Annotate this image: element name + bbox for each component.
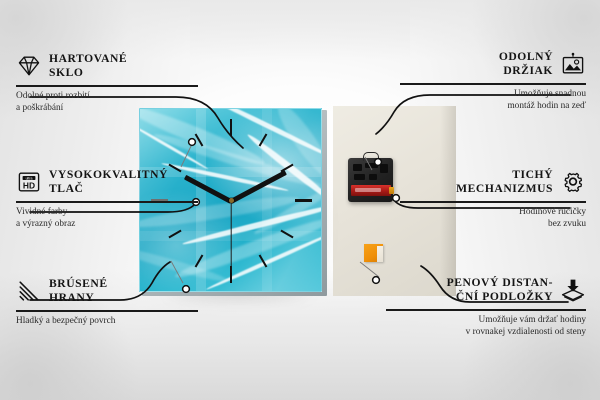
feature-title-polished-edges: BRÚSENÉ HRANY bbox=[49, 277, 108, 305]
feature-title-tempered-glass: HARTOVANÉ SKLO bbox=[49, 52, 127, 80]
feature-subtitle-line-1: Hodinové ručičky bbox=[400, 207, 586, 219]
stacked-layers-down-arrow-icon bbox=[560, 278, 586, 302]
feature-subtitle-line-2: a poškrábání bbox=[16, 103, 198, 115]
title-line-2: TLAČ bbox=[49, 182, 168, 196]
feature-header-foam-spacers: PENOVÝ DISTAN- ČNÍ PODLOŽKY bbox=[386, 276, 586, 304]
feature-subtitle-line-2: montáž hodin na zeď bbox=[400, 101, 586, 113]
title-line-2: MECHANIZMUS bbox=[456, 182, 553, 196]
gear-icon bbox=[560, 170, 586, 194]
title-line-2: DRŽIAK bbox=[503, 64, 553, 78]
feature-subtitle-line-1: Hladký a bezpečný povrch bbox=[16, 316, 198, 328]
feature-title-silent-mechanism: TICHÝ MECHANIZMUS bbox=[456, 168, 553, 196]
feature-divider bbox=[400, 83, 586, 85]
diamond-icon bbox=[16, 54, 42, 78]
feature-divider bbox=[16, 85, 198, 87]
endpoint-glass bbox=[189, 139, 196, 146]
title-line-1: HARTOVANÉ bbox=[49, 52, 127, 66]
feature-silent-mechanism: TICHÝ MECHANIZMUS Hodinové ručičky bez z… bbox=[400, 168, 586, 230]
feature-tempered-glass: HARTOVANÉ SKLO Odolné proti rozbití a po… bbox=[16, 52, 198, 114]
feature-header-silent-mechanism: TICHÝ MECHANIZMUS bbox=[400, 168, 586, 196]
endpoint-foam bbox=[373, 277, 380, 284]
title-line-1: BRÚSENÉ bbox=[49, 277, 108, 291]
feature-divider bbox=[386, 309, 586, 311]
leader-glass bbox=[181, 144, 192, 167]
beveled-edge-icon bbox=[16, 279, 42, 303]
title-line-2: ČNÍ PODLOŽKY bbox=[456, 290, 553, 304]
feature-subtitle-line-2: v rovnakej vzdialenosti od steny bbox=[386, 327, 586, 339]
title-line-1: PENOVÝ DISTAN- bbox=[447, 276, 553, 290]
feature-subtitle-line-1: Odolné proti rozbití bbox=[16, 91, 198, 103]
title-line-2: SKLO bbox=[49, 66, 127, 80]
framed-picture-hook-icon bbox=[560, 52, 586, 76]
feature-subtitle-line-2: bez zvuku bbox=[400, 219, 586, 231]
feature-header-polished-edges: BRÚSENÉ HRANY bbox=[16, 277, 198, 305]
title-line-1: TICHÝ bbox=[512, 168, 553, 182]
feature-header-durable-holder: ODOLNÝ DRŽIAK bbox=[400, 50, 586, 78]
ultra-hd-icon-main-label: HD bbox=[23, 181, 35, 191]
feature-subtitle-line-1: Umožňuje snadnou bbox=[400, 89, 586, 101]
feature-header-tempered-glass: HARTOVANÉ SKLO bbox=[16, 52, 198, 80]
endpoint-mech bbox=[393, 195, 400, 202]
feature-title-foam-spacers: PENOVÝ DISTAN- ČNÍ PODLOŽKY bbox=[447, 276, 553, 304]
feature-subtitle-line-2: a výrazný obraz bbox=[16, 219, 198, 231]
feature-header-high-quality-print: ultra HD VYSOKOKVALITNÝ TLAČ bbox=[16, 168, 198, 196]
feature-durable-holder: ODOLNÝ DRŽIAK Umožňuje snadnou montáž ho… bbox=[400, 50, 586, 112]
ultra-hd-icon: ultra HD bbox=[16, 170, 42, 194]
feature-high-quality-print: ultra HD VYSOKOKVALITNÝ TLAČ Vividné far… bbox=[16, 168, 198, 230]
feature-divider bbox=[16, 310, 198, 312]
title-line-1: VYSOKOKVALITNÝ bbox=[49, 168, 168, 182]
endpoint-holder bbox=[375, 159, 382, 166]
feature-polished-edges: BRÚSENÉ HRANY Hladký a bezpečný povrch bbox=[16, 277, 198, 328]
feature-divider bbox=[16, 201, 198, 203]
title-line-2: HRANY bbox=[49, 291, 108, 305]
feature-divider bbox=[400, 201, 586, 203]
feature-title-durable-holder: ODOLNÝ DRŽIAK bbox=[499, 50, 553, 78]
leader-foam-pad bbox=[360, 262, 379, 277]
feature-subtitle-line-1: Vividné farby bbox=[16, 207, 198, 219]
feature-foam-spacers: PENOVÝ DISTAN- ČNÍ PODLOŽKY Umožňuje vám… bbox=[386, 276, 586, 338]
leader-mech-box bbox=[365, 157, 372, 170]
infographic-canvas: HARTOVANÉ SKLO Odolné proti rozbití a po… bbox=[0, 0, 600, 400]
title-line-1: ODOLNÝ bbox=[499, 50, 553, 64]
feature-subtitle-line-1: Umožňuje vám držať hodiny bbox=[386, 315, 586, 327]
feature-title-high-quality-print: VYSOKOKVALITNÝ TLAČ bbox=[49, 168, 168, 196]
